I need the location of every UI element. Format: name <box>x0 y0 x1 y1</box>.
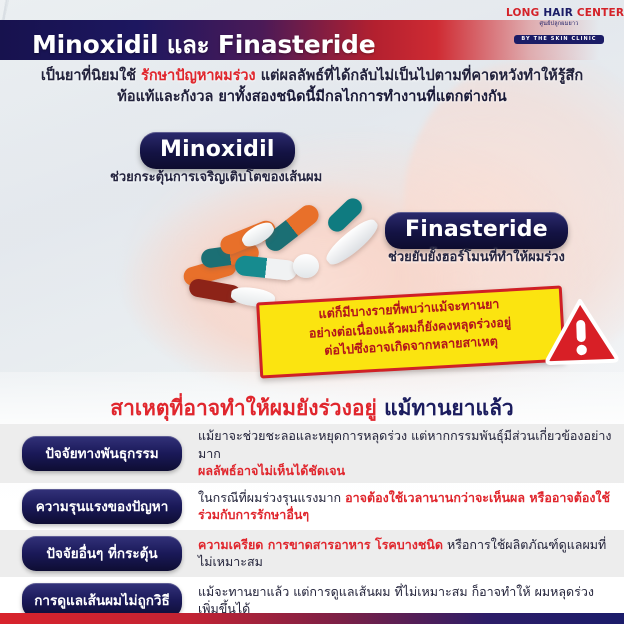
cause-label-severity: ความรุนแรงของปัญหา <box>22 489 182 524</box>
logo-badge: BY THE SKIN CLINIC <box>514 35 603 44</box>
page-title: Minoxidil และ Finasteride <box>32 25 376 64</box>
tablet-round-white <box>293 254 319 278</box>
list-item: ความรุนแรงของปัญหา ในกรณีที่ผมร่วงรุนแรง… <box>0 483 624 530</box>
intro-line2-b: ยาทั้งสองชนิดนี้มีกลไกการทำงานที่แตกต่าง… <box>218 89 506 105</box>
list-item: ปัจจัยทางพันธุกรรม แม้ยาจะช่วยชะลอและหยุ… <box>0 424 624 483</box>
capsule-teal-white <box>234 255 298 281</box>
cause-body-genetics: แม้ยาจะช่วยชะลอและหยุดการหลุดร่วง แต่หาก… <box>182 427 612 480</box>
cause-body-severity: ในกรณีที่ผมร่วงรุนแรงมาก อาจต้องใช้เวลาน… <box>182 489 612 524</box>
logo-word-center: CENTER <box>577 7 624 19</box>
intro-line2-a: ท้อแท้และกังวล <box>117 89 218 105</box>
title-finasteride: Finasteride <box>218 30 376 59</box>
brand-logo: LONG HAIR CENTER ศูนย์ปลูกผมยาว BY THE S… <box>506 8 612 44</box>
logo-wordmark: LONG HAIR CENTER <box>506 8 612 19</box>
cause-text-plain: แม้จะทานยาแล้ว แต่การดูแลเส้นผม ที่ไม่เห… <box>198 584 594 617</box>
section-heading: สาเหตุที่อาจทำให้ผมยังร่วงอยู่ แม้ทานยาแ… <box>0 392 624 425</box>
footer-gradient-bar <box>0 613 624 624</box>
section-heading-red: สาเหตุที่อาจทำให้ผมยังร่วงอยู่ <box>110 396 377 420</box>
minoxidil-caption: ช่วยกระตุ้นการเจริญเติบโตของเส้นผม <box>110 166 322 187</box>
minoxidil-name-pill: Minoxidil <box>140 132 295 169</box>
intro-highlight: รักษาปัญหาผมร่วง <box>141 68 256 84</box>
logo-subtitle: ศูนย์ปลูกผมยาว <box>506 22 612 28</box>
causes-list: ปัจจัยทางพันธุกรรม แม้ยาจะช่วยชะลอและหยุ… <box>0 424 624 624</box>
finasteride-name-pill: Finasteride <box>385 212 568 249</box>
warning-callout: แต่ก็มีบางรายที่พบว่าแม้จะทานยา อย่างต่อ… <box>258 288 624 378</box>
cause-body-triggers: ความเครียด การขาดสารอาหาร โรคบางชนิด หรื… <box>182 536 612 571</box>
infographic-poster: Minoxidil และ Finasteride LONG HAIR CENT… <box>0 0 624 624</box>
cause-text-red: ความเครียด การขาดสารอาหาร โรคบางชนิด <box>198 537 443 552</box>
cause-text-red: ผลลัพธ์อาจไม่เห็นได้ชัดเจน <box>198 463 345 478</box>
list-item: ปัจจัยอื่นๆ ที่กระตุ้น ความเครียด การขาด… <box>0 530 624 577</box>
cause-text-plain: แม้ยาจะช่วยชะลอและหยุดการหลุดร่วง แต่หาก… <box>198 428 612 461</box>
intro-paragraph: เป็นยาที่นิยมใช้ รักษาปัญหาผมร่วง แต่ผลล… <box>30 66 594 108</box>
section-heading-navy: แม้ทานยาแล้ว <box>384 396 514 420</box>
title-conjunction: และ <box>167 31 209 59</box>
cause-label-genetics: ปัจจัยทางพันธุกรรม <box>22 436 182 471</box>
intro-line1-a: เป็นยาที่นิยมใช้ <box>41 68 141 84</box>
finasteride-caption: ช่วยยับยั้งฮอร์โมนที่ทำให้ผมร่วง <box>388 246 565 267</box>
cause-text-plain: ในกรณีที่ผมร่วงรุนแรงมาก <box>198 490 345 505</box>
warning-triangle-icon <box>543 297 619 366</box>
logo-word-hair: HAIR <box>543 7 573 19</box>
title-minoxidil: Minoxidil <box>32 30 158 59</box>
intro-line1-b: แต่ผลลัพธ์ที่ได้กลับไม่เป็นไปตามที่คาดหว… <box>256 68 584 84</box>
logo-word-long: LONG <box>506 7 539 19</box>
cause-label-triggers: ปัจจัยอื่นๆ ที่กระตุ้น <box>22 536 182 571</box>
